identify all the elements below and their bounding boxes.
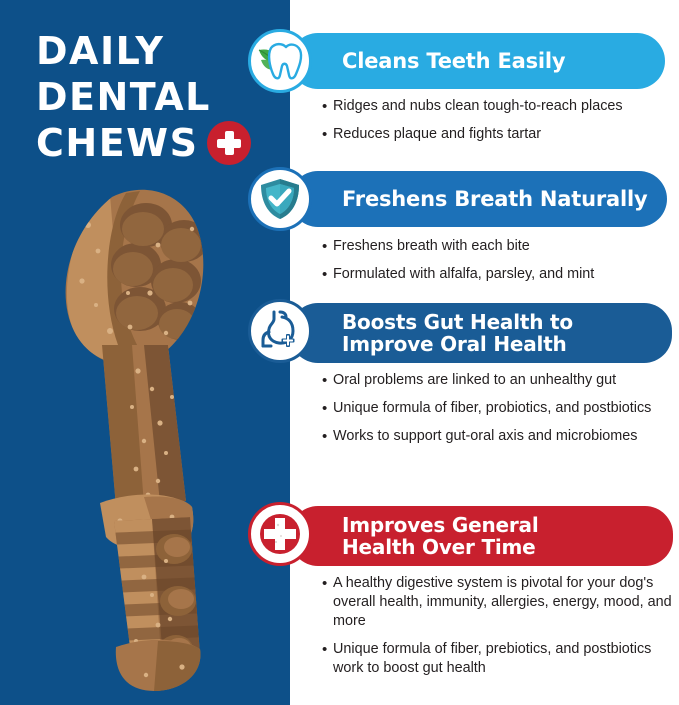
bullet-text: Oral problems are linked to an unhealthy…: [333, 371, 672, 390]
bullet-text: Formulated with alfalfa, parsley, and mi…: [333, 265, 672, 284]
page-title-line-2: Dental: [36, 74, 276, 120]
list-item: • Freshens breath with each bite: [322, 237, 672, 256]
bullet-marker: •: [322, 640, 333, 678]
bullet-text: A healthy digestive system is pivotal fo…: [333, 574, 672, 631]
bullet-marker: •: [322, 97, 333, 116]
shield-check-icon: [248, 167, 312, 231]
feature-2-pill: Boosts Gut Health to Improve Oral Health: [290, 303, 672, 363]
bullet-marker: •: [322, 371, 333, 390]
page-title-line-3: Chews: [36, 120, 198, 166]
page-title-line-3-row: Chews: [36, 120, 276, 166]
list-item: • Unique formula of fiber, probiotics, a…: [322, 399, 672, 418]
bullet-marker: •: [322, 265, 333, 284]
bullet-text: Ridges and nubs clean tough-to-reach pla…: [333, 97, 672, 116]
dog-dental-chew-illustration: [40, 185, 250, 695]
page-title-line-1: Daily: [36, 28, 276, 74]
medical-cross-icon: [207, 121, 251, 165]
list-item: • Unique formula of fiber, prebiotics, a…: [322, 640, 672, 678]
list-item: • Formulated with alfalfa, parsley, and …: [322, 265, 672, 284]
bullet-text: Works to support gut-oral axis and micro…: [333, 427, 672, 446]
medical-cross-icon: [248, 502, 312, 566]
feature-1-pill: Freshens Breath Naturally: [290, 171, 667, 227]
feature-0-title: Cleans Teeth Easily: [342, 50, 565, 73]
bullet-marker: •: [322, 125, 333, 144]
list-item: • Works to support gut-oral axis and mic…: [322, 427, 672, 446]
list-item: • A healthy digestive system is pivotal …: [322, 574, 672, 631]
bullet-text: Freshens breath with each bite: [333, 237, 672, 256]
bullet-marker: •: [322, 427, 333, 446]
list-item: • Ridges and nubs clean tough-to-reach p…: [322, 97, 672, 116]
feature-2-bullets: • Oral problems are linked to an unhealt…: [322, 371, 672, 455]
stomach-plus-icon: [248, 299, 312, 363]
feature-0-bullets: • Ridges and nubs clean tough-to-reach p…: [322, 97, 672, 153]
bullet-marker: •: [322, 574, 333, 631]
bullet-text: Unique formula of fiber, probiotics, and…: [333, 399, 672, 418]
list-item: • Reduces plaque and fights tartar: [322, 125, 672, 144]
bullet-text: Reduces plaque and fights tartar: [333, 125, 672, 144]
feature-3-pill: Improves General Health Over Time: [290, 506, 673, 566]
bullet-marker: •: [322, 399, 333, 418]
tooth-mint-leaf-icon: [248, 29, 312, 93]
feature-0-pill: Cleans Teeth Easily: [290, 33, 665, 89]
feature-2-title: Boosts Gut Health to Improve Oral Health: [342, 311, 573, 355]
page-title: Daily Dental Chews: [36, 28, 276, 166]
bullet-marker: •: [322, 237, 333, 256]
feature-1-title: Freshens Breath Naturally: [342, 188, 647, 211]
feature-3-bullets: • A healthy digestive system is pivotal …: [322, 574, 672, 687]
feature-3-title: Improves General Health Over Time: [342, 514, 538, 558]
list-item: • Oral problems are linked to an unhealt…: [322, 371, 672, 390]
bullet-text: Unique formula of fiber, prebiotics, and…: [333, 640, 672, 678]
chew-bottom-cap: [116, 640, 201, 691]
feature-1-bullets: • Freshens breath with each bite • Formu…: [322, 237, 672, 293]
